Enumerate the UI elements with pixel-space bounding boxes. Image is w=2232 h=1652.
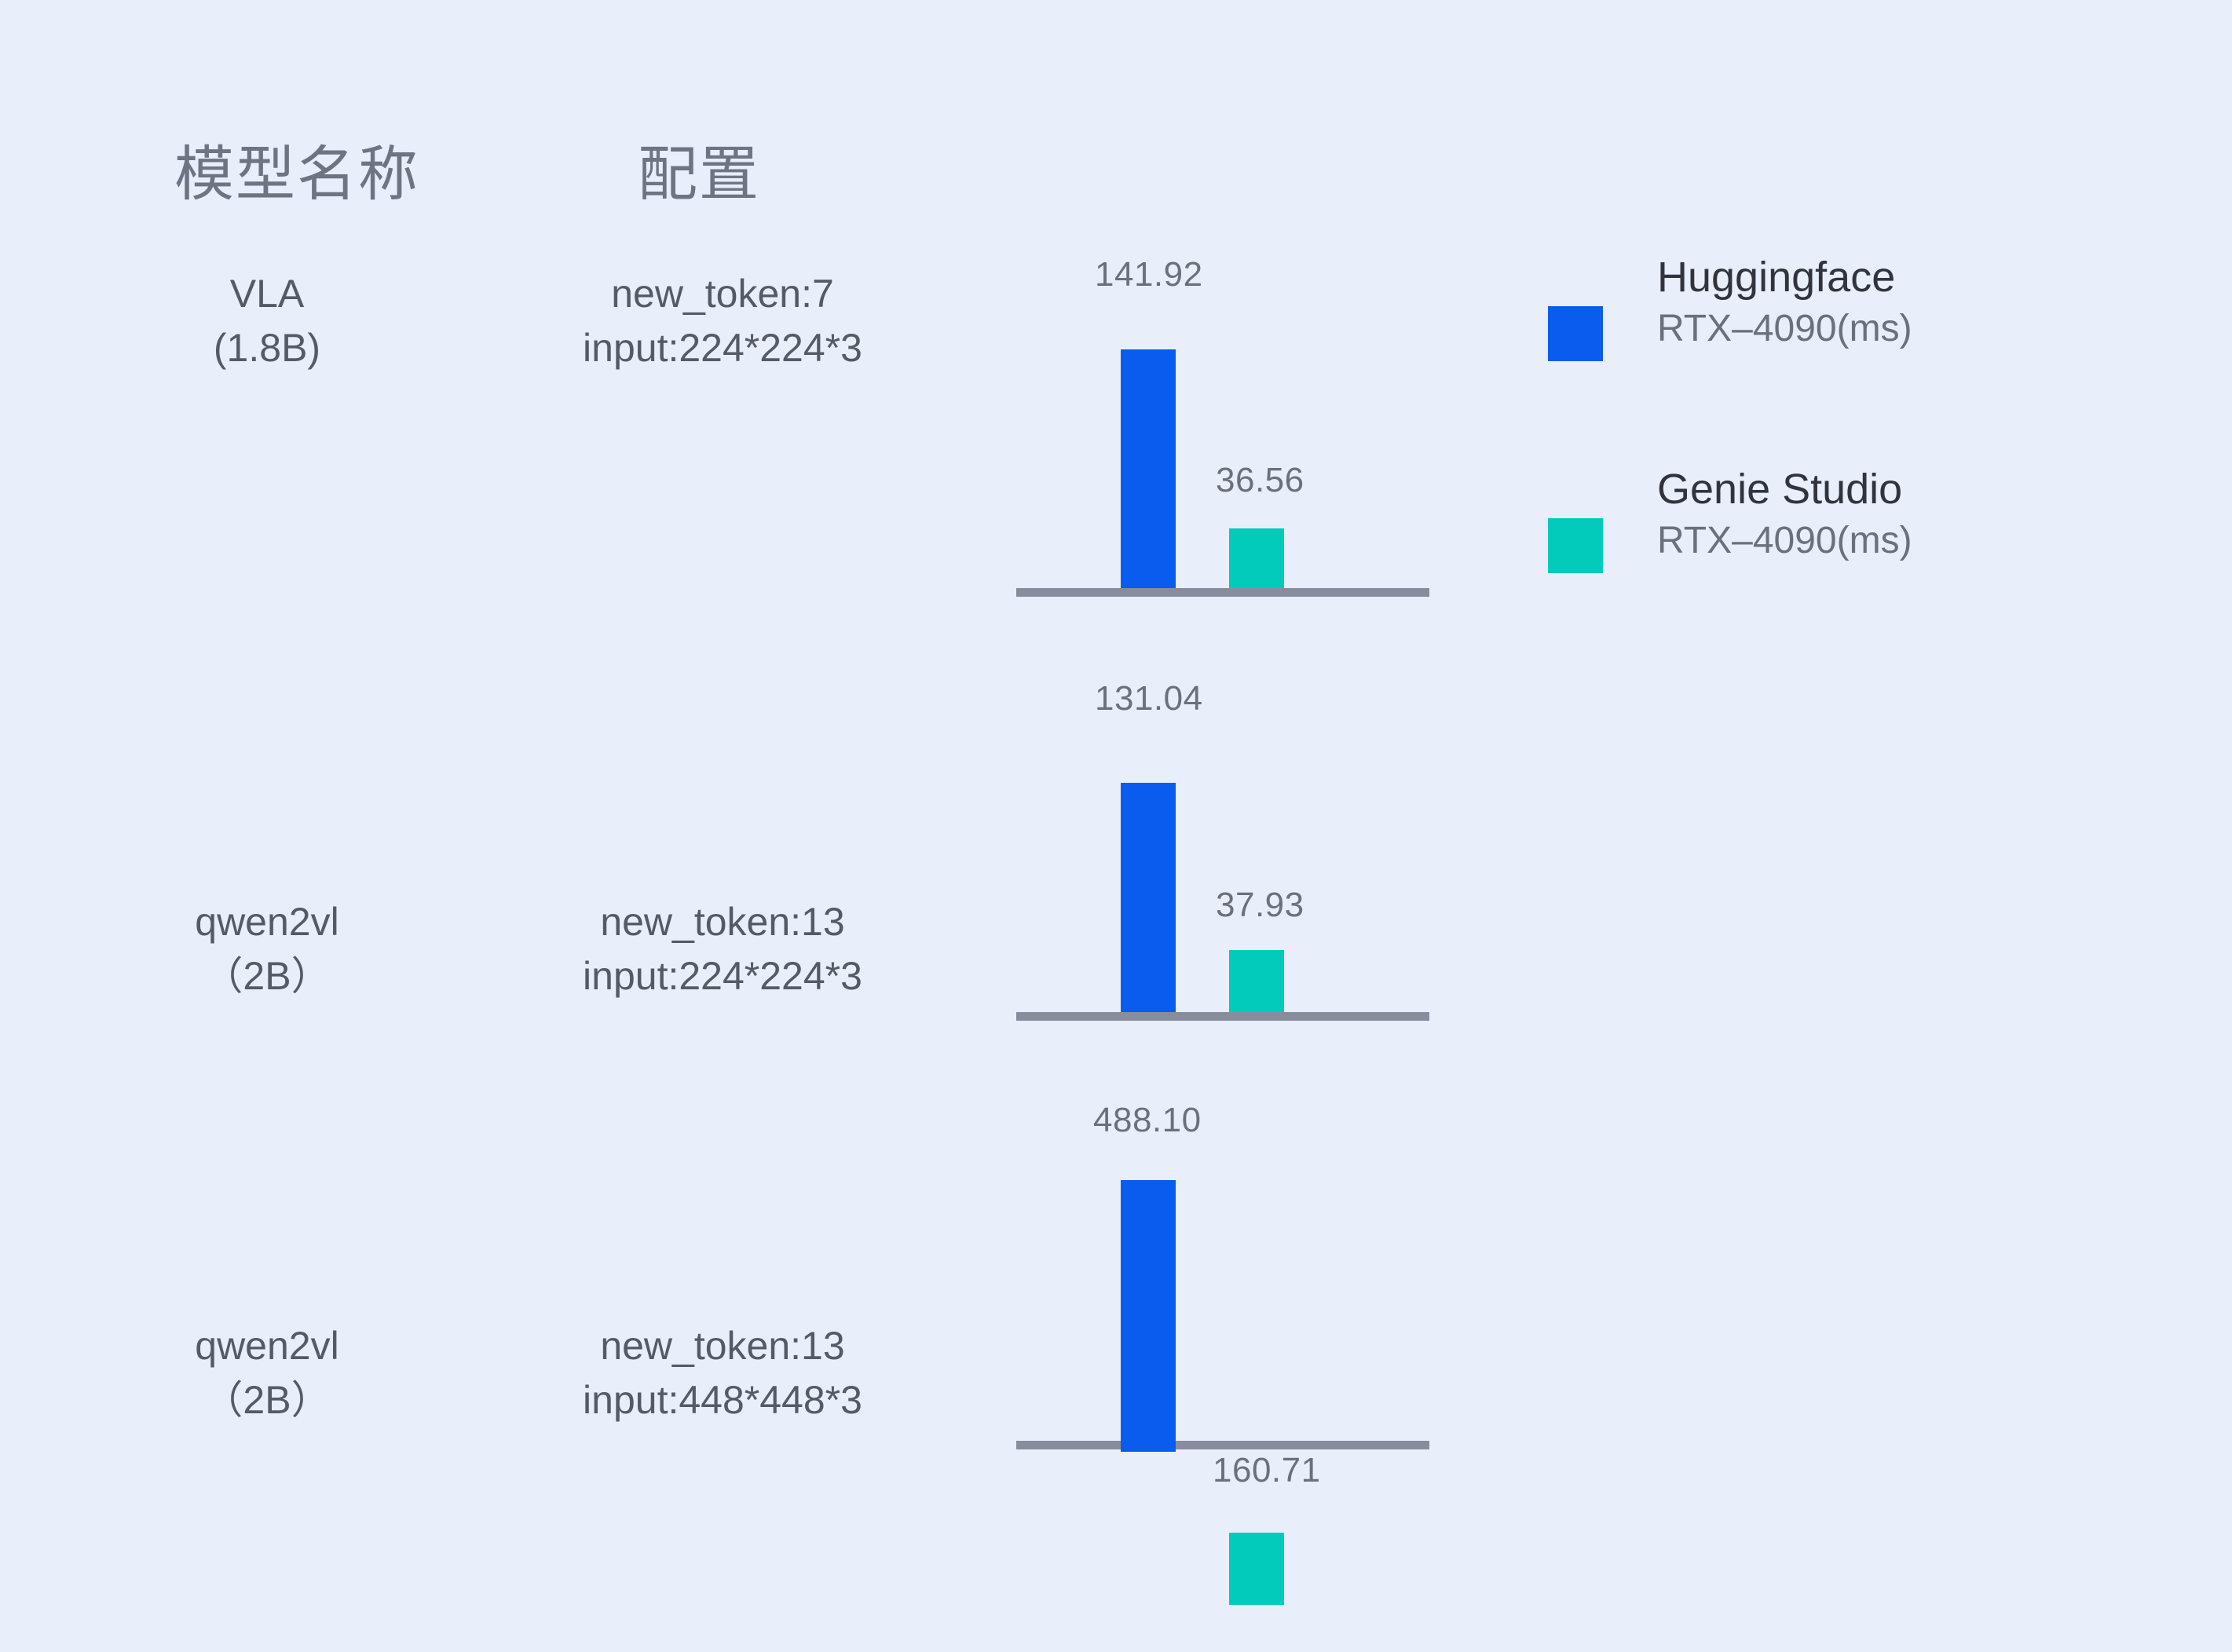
row-3-model-line2: （2B） bbox=[141, 1373, 393, 1427]
legend-item-genie-studio-text: Genie Studio RTX–4090(ms) bbox=[1657, 463, 2081, 565]
row-1-huggingface-bar[interactable] bbox=[1121, 349, 1176, 589]
column-headers: 模型名称 配置 bbox=[0, 126, 990, 220]
blue-square-icon bbox=[1548, 306, 1603, 361]
header-model-name: 模型名称 bbox=[174, 126, 419, 212]
row-1-model-line2: (1.8B) bbox=[141, 321, 393, 375]
row-3-plot: 488.10 160.71 bbox=[1016, 1084, 1433, 1476]
legend-item-huggingface-text: Huggingface RTX–4090(ms) bbox=[1657, 251, 2081, 353]
row-1-config-line1: new_token:7 bbox=[471, 267, 974, 321]
chart-page: 模型名称 配置 VLA (1.8B) new_token:7 input:224… bbox=[0, 0, 2232, 1652]
row-3-config-cell: new_token:13 input:448*448*3 bbox=[471, 1319, 974, 1427]
legend-item-genie-studio[interactable]: Genie Studio RTX–4090(ms) bbox=[1539, 463, 2089, 628]
chart-legend: Huggingface RTX–4090(ms) Genie Studio RT… bbox=[1539, 236, 2089, 612]
teal-square-icon bbox=[1548, 518, 1603, 573]
row-1-plot: 141.92 36.56 bbox=[1016, 236, 1433, 605]
row-3-config-line2: input:448*448*3 bbox=[471, 1373, 974, 1427]
legend-huggingface-title: Huggingface bbox=[1657, 251, 2081, 305]
legend-huggingface-subtitle: RTX–4090(ms) bbox=[1657, 305, 2081, 353]
row-3-model-cell: qwen2vl （2B） bbox=[141, 1319, 393, 1427]
row-3-huggingface-value-label: 488.10 bbox=[1093, 1101, 1202, 1140]
legend-genie-subtitle: RTX–4090(ms) bbox=[1657, 517, 2081, 565]
row-2-plot: 131.04 37.93 bbox=[1016, 660, 1433, 1029]
row-2-genie-value-label: 37.93 bbox=[1216, 886, 1304, 925]
row-1-model-line1: VLA bbox=[141, 267, 393, 321]
row-1-huggingface-value-label: 141.92 bbox=[1095, 255, 1203, 294]
row-1-genie-bar[interactable] bbox=[1229, 528, 1284, 589]
legend-item-huggingface[interactable]: Huggingface RTX–4090(ms) bbox=[1539, 251, 2089, 416]
chart-row-3: qwen2vl （2B） new_token:13 input:448*448*… bbox=[0, 1084, 2232, 1500]
row-3-huggingface-bar[interactable] bbox=[1121, 1180, 1176, 1452]
row-3-config-line1: new_token:13 bbox=[471, 1319, 974, 1373]
row-1-config-line2: input:224*224*3 bbox=[471, 321, 974, 375]
row-2-model-line1: qwen2vl bbox=[141, 895, 393, 949]
row-1-model-cell: VLA (1.8B) bbox=[141, 267, 393, 375]
row-2-config-line2: input:224*224*3 bbox=[471, 949, 974, 1003]
row-2-config-line1: new_token:13 bbox=[471, 895, 974, 949]
row-1-baseline bbox=[1016, 588, 1429, 597]
row-1-genie-value-label: 36.56 bbox=[1216, 461, 1304, 500]
row-2-model-line2: （2B） bbox=[141, 949, 393, 1003]
row-2-huggingface-value-label: 131.04 bbox=[1095, 679, 1203, 718]
row-2-config-cell: new_token:13 input:224*224*3 bbox=[471, 895, 974, 1003]
row-3-model-line1: qwen2vl bbox=[141, 1319, 393, 1373]
row-2-genie-bar[interactable] bbox=[1229, 950, 1284, 1013]
row-1-config-cell: new_token:7 input:224*224*3 bbox=[471, 267, 974, 375]
header-config: 配置 bbox=[638, 126, 760, 212]
legend-genie-title: Genie Studio bbox=[1657, 463, 2081, 517]
chart-row-2: qwen2vl （2B） new_token:13 input:224*224*… bbox=[0, 660, 2232, 1044]
row-2-baseline bbox=[1016, 1012, 1429, 1021]
row-2-huggingface-bar[interactable] bbox=[1121, 783, 1176, 1013]
row-2-model-cell: qwen2vl （2B） bbox=[141, 895, 393, 1003]
row-3-baseline bbox=[1016, 1441, 1429, 1449]
row-3-genie-bar[interactable] bbox=[1229, 1533, 1284, 1605]
row-3-genie-value-label: 160.71 bbox=[1213, 1451, 1321, 1490]
